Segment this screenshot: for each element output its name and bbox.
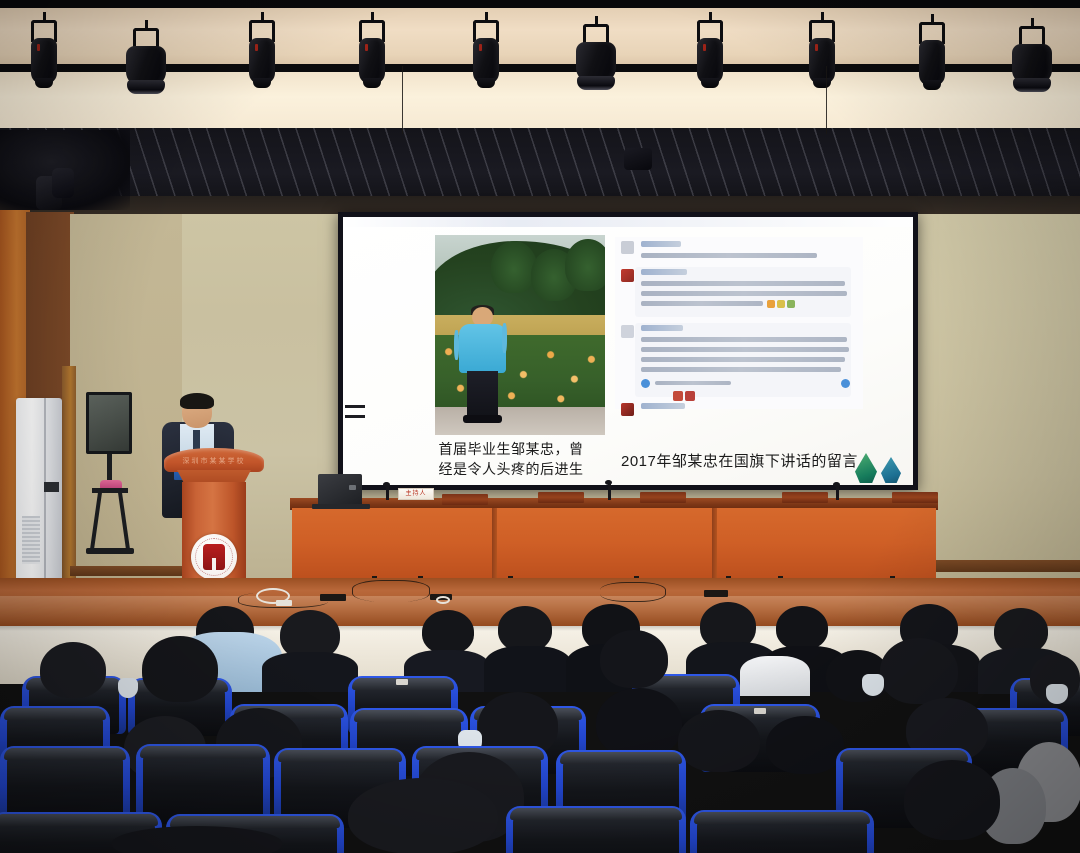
photo-person-arm-left [454,330,459,360]
attendee-head-foreground [112,826,282,853]
hanging-cable [402,66,403,134]
attendee-head [596,688,682,758]
laptop-logo [349,485,356,490]
ceiling-projector-center [624,148,652,170]
light-lens [813,78,831,88]
monitor-stand-leg [90,492,102,550]
post-text-line [641,301,763,306]
post-username [641,269,687,275]
ceiling-camera [52,168,74,198]
monitor-screen[interactable] [86,392,132,454]
rolling-display-monitor [86,392,134,592]
podium-front-text: 深圳市某某学校 [164,456,264,466]
attendee-head [422,610,474,654]
post-avatar [621,269,634,282]
photo-tree [565,239,605,291]
post-avatar [621,403,634,416]
school-crest-emblem [191,534,237,580]
gooseneck-microphone [608,484,611,500]
projection-screen-surface[interactable]: 首届毕业生邹某忠，曾 经是令人头疼的后进生 2017年邹某忠在国旗下讲话的留言 [343,217,913,485]
lectern-podium: 深圳市某某学校 [164,448,264,588]
table-nameplate [640,492,686,503]
light-lens [577,76,615,90]
floor-cable [352,580,430,602]
post-like-icon[interactable] [641,379,650,388]
microphone-head [833,482,840,487]
chair-top-cap [4,708,106,720]
auditorium-photo-scene: 首届毕业生邹某忠，曾 经是令人头疼的后进生 2017年邹某忠在国旗下讲话的留言 [0,0,1080,853]
slide-caption-left: 首届毕业生邹某忠，曾 经是令人头疼的后进生 [421,439,601,480]
attendee-head [600,630,668,688]
table-panel-seam [712,508,717,586]
post-text-line [641,253,817,258]
light-indicator-led [479,44,482,51]
attendee-torso-white [740,656,810,696]
photo-person [457,307,508,423]
chair-number-tag [396,679,408,685]
post-username [641,241,681,247]
monitor-stand-base [86,548,134,554]
post-avatar [621,241,634,254]
screen-top-glare [343,217,913,227]
attendee-torso [262,652,358,692]
post-text-line [641,347,849,352]
stage-table-front-panel [292,508,936,586]
tree-icon-teal [881,457,901,483]
ac-panel-seam [44,398,46,586]
light-indicator-led [703,44,706,51]
table-name-card-text: 主持人 [399,489,433,500]
monitor-stand-leg [118,492,130,550]
floor-cable [600,582,666,602]
photo-tree [491,241,537,293]
table-panel-seam [492,508,497,586]
right-wall-panel [918,214,1080,586]
post-text-line [641,357,845,362]
photo-person-shirt [459,324,506,373]
chair-top-cap [560,752,682,764]
podium-body [182,482,246,586]
post-text-line [641,367,841,372]
light-lens [253,78,271,88]
face-mask [1046,684,1068,704]
chair-top-cap [4,748,126,760]
speaker-hair [180,393,214,409]
attendee-torso [484,646,572,692]
microphone-head [605,480,612,485]
light-indicator-led [255,44,258,51]
attendee-head [776,606,828,650]
wooden-pillar-trim [62,366,76,581]
face-mask [862,674,884,696]
slide-social-post [615,237,863,409]
slide-photo-graduate [435,235,605,435]
post-emoji [685,391,695,401]
table-nameplate [782,492,828,503]
attendee-head [678,710,760,772]
post-emoji [777,300,785,308]
post-avatar [621,325,634,338]
post-text-line [641,281,845,286]
chair-top-cap [510,808,682,820]
attendee-head [766,716,844,774]
tree-icon-green [855,453,877,483]
chair-top-cap [140,746,266,758]
light-indicator-led [815,44,818,51]
right-wall-baseboard [918,560,1080,572]
post-emoji [673,391,683,401]
microphone-head [383,482,390,487]
attendee-head [904,760,1000,840]
auditorium-chair[interactable] [690,810,874,853]
light-lens [477,78,495,88]
post-emoji [767,300,775,308]
table-nameplate [442,494,488,505]
chair-number-tag [754,708,766,714]
emblem-notch [212,558,216,570]
ac-vent-grille [22,516,40,564]
table-nameplate [892,492,938,503]
slide-caption-left-line1: 首届毕业生邹某忠，曾 [421,439,601,459]
chair-top-cap [354,710,464,722]
floor-power-box [704,590,728,597]
attendee-head [880,638,958,704]
light-lens [35,78,53,88]
post-emoji [787,300,795,308]
light-indicator-led [37,44,40,51]
light-indicator-led [365,44,368,51]
face-mask [118,678,138,698]
presenter-laptop[interactable] [318,474,362,506]
chair-top-cap [278,750,402,762]
attendee-head-foreground [348,778,498,853]
floor-standing-air-conditioner [16,398,62,586]
ac-control-panel[interactable] [44,482,59,492]
photo-person-shoes [463,415,502,423]
gooseneck-microphone [386,486,389,500]
slide-tree-decoration [853,449,905,483]
light-lens [1013,78,1051,92]
attendee-head [40,642,106,698]
post-text-line [641,337,847,342]
auditorium-chair[interactable] [506,806,686,853]
light-lens [127,80,165,94]
post-like-icon[interactable] [841,379,850,388]
audience-area [0,600,1080,853]
post-meta-line [655,381,731,385]
post-username [641,403,685,409]
attendee-head [142,636,218,702]
gooseneck-microphone [836,486,839,500]
photo-person-pants [467,371,498,415]
photo-person-arm-right [502,323,507,353]
screen-edge-mark [345,405,365,408]
post-username [641,325,683,331]
table-nameplate [538,492,584,503]
light-lens [701,78,719,88]
slide-caption-left-line2: 经是令人头疼的后进生 [421,459,601,479]
projection-screen-frame: 首届毕业生邹某忠，曾 经是令人头疼的后进生 2017年邹某忠在国旗下讲话的留言 [338,212,918,490]
chair-top-cap [0,814,158,826]
table-name-card: 主持人 [398,488,434,500]
post-text-line [641,291,847,296]
emblem-glyph [203,544,225,570]
light-lens [363,78,381,88]
light-lens [923,80,941,90]
podium-top-surface: 深圳市某某学校 [164,448,264,472]
screen-edge-mark [345,415,365,418]
hanging-cable [826,66,827,134]
laptop-base [312,504,370,509]
chair-top-cap [694,812,870,824]
